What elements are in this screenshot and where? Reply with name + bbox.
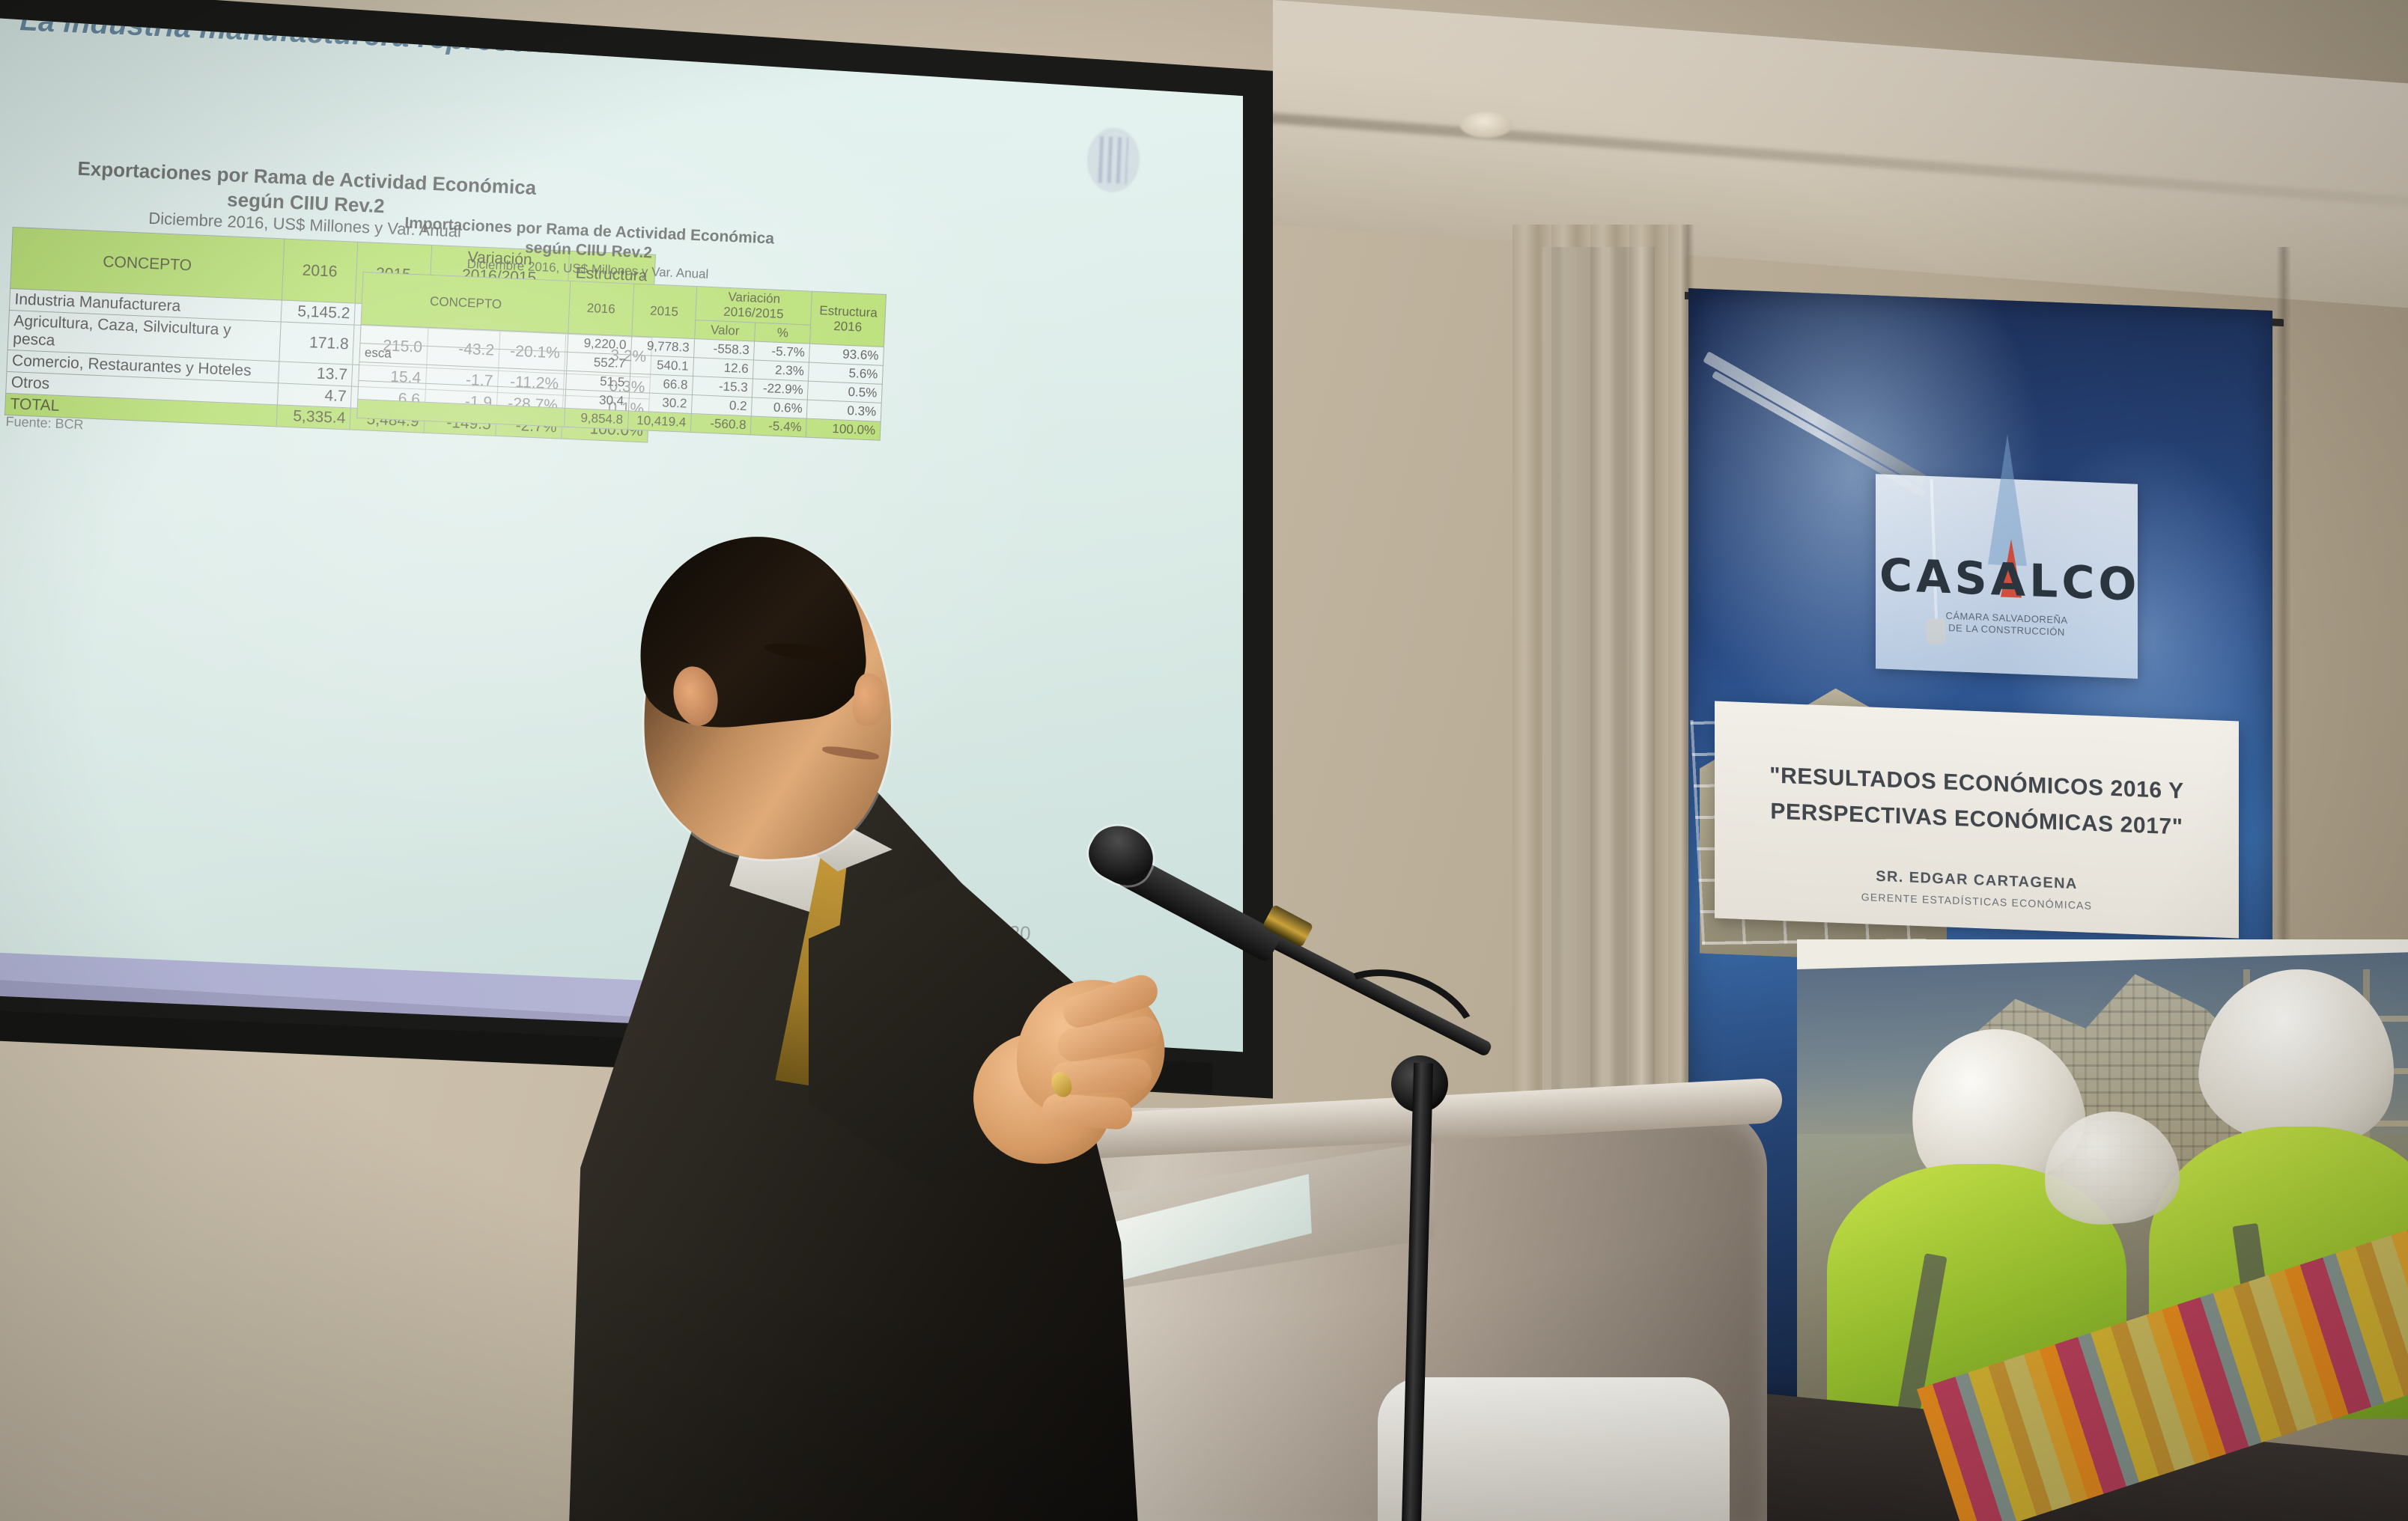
- col-pct: %: [755, 323, 811, 344]
- col-estructura: Estructura 2016: [810, 291, 887, 347]
- cell-2016: 9,220.0: [568, 333, 631, 355]
- cell-total-2016: 5,335.4: [276, 405, 351, 430]
- cell-2016: 13.7: [278, 362, 353, 386]
- bcr-logo: [1086, 127, 1141, 193]
- cell-total-pct: -5.4%: [750, 416, 806, 437]
- cell-2016: 5,145.2: [281, 300, 356, 325]
- screenshot-scene: La industria manufacturera representa má…: [0, 0, 2408, 1521]
- cell-pct: 2.3%: [753, 360, 809, 381]
- col-valor: Valor: [695, 320, 755, 341]
- cell-valor: 0.2: [691, 395, 752, 416]
- cell-total-estructura: 100.0%: [806, 418, 881, 440]
- col-2015: 2015: [631, 284, 696, 339]
- cell-2016: 30.4: [565, 389, 629, 411]
- source-note: Fuente: BCR: [5, 414, 84, 433]
- cell-total-valor: -560.8: [690, 413, 751, 434]
- cell-valor: -15.3: [692, 377, 752, 397]
- col-2016: 2016: [282, 239, 358, 303]
- cell-2015: 66.8: [629, 374, 693, 395]
- cell-2016: 171.8: [279, 322, 355, 365]
- podium-base: [1378, 1377, 1730, 1521]
- cell-pct: 0.6%: [752, 397, 808, 418]
- col-concepto: CONCEPTO: [10, 228, 285, 300]
- cell-pct: -5.7%: [754, 341, 810, 362]
- cell-valor: -558.3: [694, 339, 755, 360]
- cell-pct: -22.9%: [752, 379, 809, 400]
- finger: [1042, 1093, 1134, 1130]
- cell-2015: 540.1: [630, 355, 693, 377]
- col-2016: 2016: [568, 281, 633, 336]
- cell-2016: 51.5: [566, 371, 630, 392]
- ceiling-dome-light: [1460, 112, 1512, 138]
- slide-content: La industria manufacturera representa má…: [0, 0, 1241, 1102]
- importaciones-table: CONCEPTO 2016 2015 Variación 2016/2015 E…: [356, 272, 887, 441]
- cell-2016: 552.7: [567, 352, 630, 374]
- cell-total-2015: 10,419.4: [627, 411, 691, 433]
- cell-valor: 12.6: [693, 358, 754, 379]
- cell-2015: 30.2: [628, 392, 692, 414]
- cell-total-2016: 9,854.8: [565, 408, 628, 430]
- projection-screen: La industria manufacturera representa má…: [0, 0, 1243, 1102]
- col-concepto: CONCEPTO: [361, 272, 571, 334]
- col-variacion: Variación 2016/2015: [696, 287, 812, 326]
- cell-2015: 9,778.3: [630, 336, 694, 358]
- cell-2016: 4.7: [277, 383, 352, 408]
- casalco-wordmark: CASALCO: [1879, 549, 2134, 611]
